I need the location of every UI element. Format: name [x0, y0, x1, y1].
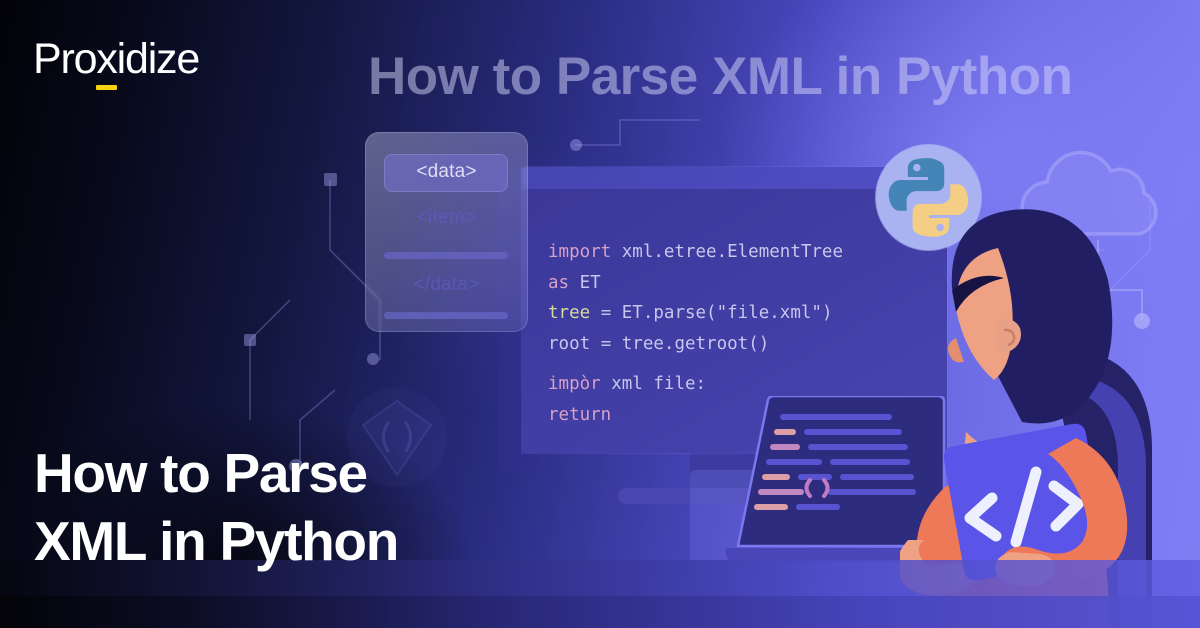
code-token: ET.parse("file.xml")	[622, 303, 833, 323]
xml-tag-open: <data>	[365, 161, 528, 183]
xml-tag-child: <item>	[365, 207, 528, 229]
code-line: as ET	[548, 268, 843, 299]
xml-tag-close: </data>	[365, 274, 528, 296]
social-card-canvas: How to Parse XML in Python Proxidize imp…	[0, 0, 1200, 628]
code-token: =	[590, 303, 622, 323]
code-token: tree.getroot()	[622, 334, 770, 354]
code-token: ET	[569, 273, 601, 293]
code-token: =	[590, 334, 622, 354]
background-heading: How to Parse XML in Python	[368, 48, 1128, 106]
xml-document-card: <data> <item> </data>	[365, 132, 528, 332]
code-token: xml.etree.ElementTree	[611, 242, 843, 262]
xml-placeholder-line	[384, 312, 508, 319]
page-title-line-1: How to Parse	[34, 440, 554, 508]
page-title: How to Parse XML in Python	[34, 440, 554, 575]
code-token: as	[548, 273, 569, 293]
code-line: impòr xml file:	[548, 369, 843, 400]
code-token: xml file:	[601, 374, 706, 394]
code-token: impòr	[548, 374, 601, 394]
xml-placeholder-line	[384, 252, 508, 259]
desk-front-edge	[0, 596, 1200, 628]
brand-logo-part2: idize	[117, 35, 199, 83]
code-token: return	[548, 405, 611, 425]
brand-logo-accent-x: x	[96, 38, 116, 81]
brand-logo-part1: Pro	[33, 35, 96, 83]
code-line: tree = ET.parse("file.xml")	[548, 298, 843, 329]
page-title-line-2: XML in Python	[34, 508, 554, 576]
code-token: tree	[548, 303, 590, 323]
brand-logo[interactable]: Proxidize	[33, 38, 199, 81]
code-token: root	[548, 334, 590, 354]
code-line-gap	[548, 359, 843, 369]
code-token: import	[548, 242, 611, 262]
code-line: import xml.etree.ElementTree	[548, 237, 843, 268]
code-line: root = tree.getroot()	[548, 329, 843, 360]
